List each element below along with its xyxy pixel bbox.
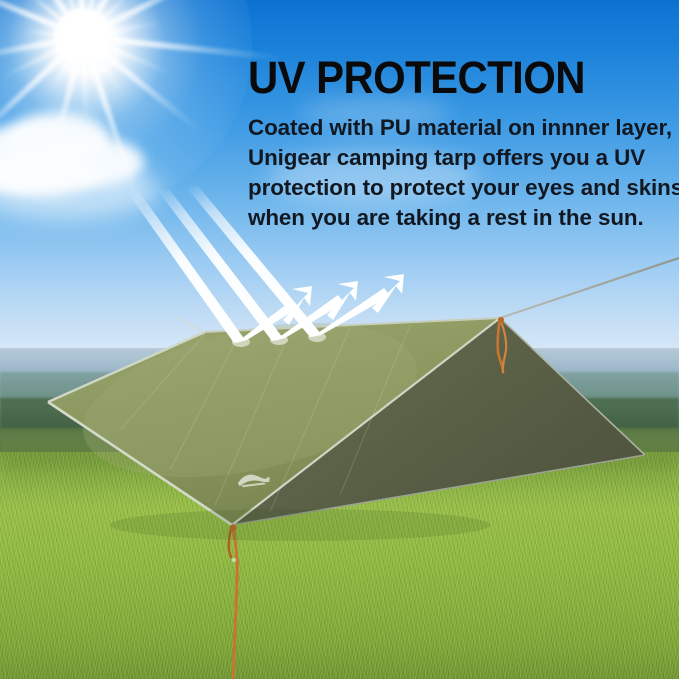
body-line-1: Coated with PU material on innner layer, <box>248 113 668 143</box>
body-line-2: Unigear camping tarp offers you a UV <box>248 143 668 173</box>
copy-block: UV PROTECTION Coated with PU material on… <box>248 52 668 233</box>
product-marketing-image: UV PROTECTION Coated with PU material on… <box>0 0 679 679</box>
body-copy: Coated with PU material on innner layer,… <box>248 113 668 233</box>
body-line-3: protection to protect your eyes and skin… <box>248 173 668 203</box>
body-line-4: when you are taking a rest in the sun. <box>248 203 668 233</box>
page-title: UV PROTECTION <box>248 52 639 104</box>
